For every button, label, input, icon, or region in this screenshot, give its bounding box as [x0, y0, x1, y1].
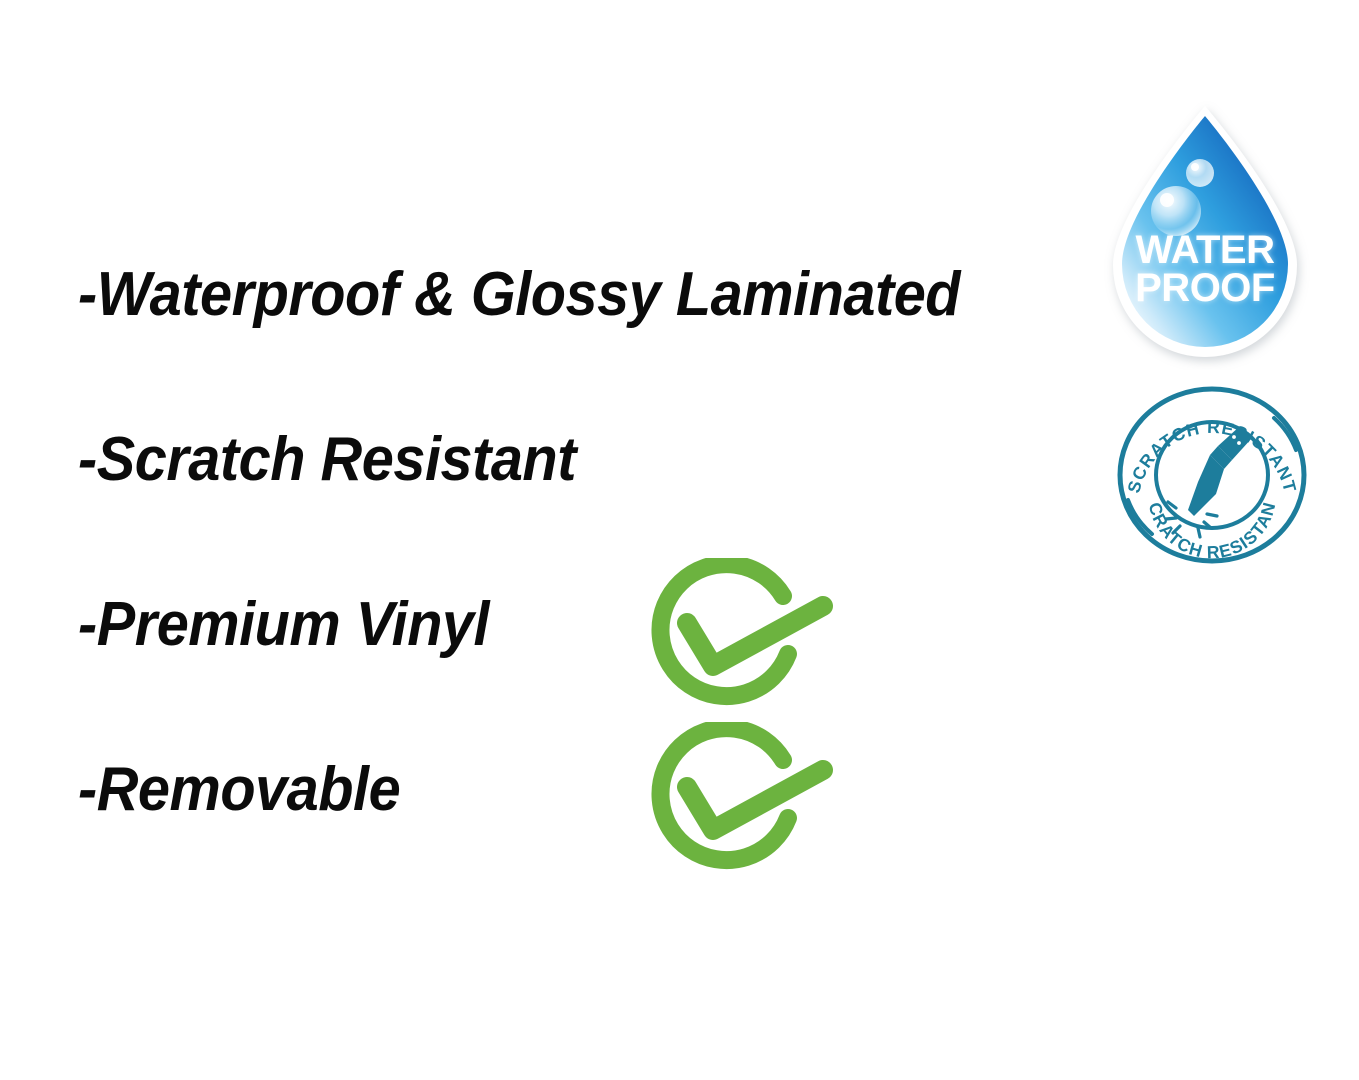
- water-drop-body: [1122, 116, 1288, 347]
- knife-icon: [1188, 426, 1252, 516]
- feature-list-panel: -Waterproof & Glossy Laminated -Scratch …: [0, 0, 1359, 1080]
- water-drop-icon: [1095, 100, 1315, 370]
- knife-rivet-2: [1237, 441, 1241, 445]
- water-bubble-large-highlight: [1160, 193, 1174, 207]
- knife-blade: [1188, 455, 1224, 516]
- checkmark-removable: [640, 722, 840, 877]
- check-circle-icon: [640, 722, 840, 877]
- check-tick: [687, 770, 823, 830]
- waterproof-badge: WATER PROOF: [1095, 100, 1315, 370]
- feature-line-removable: -Removable: [78, 759, 400, 821]
- feature-line-premium-vinyl: -Premium Vinyl: [78, 594, 489, 656]
- water-bubble-small: [1186, 159, 1214, 187]
- knife-rivet-1: [1232, 435, 1236, 439]
- check-tick: [687, 606, 823, 666]
- feature-line-scratch-resistant: -Scratch Resistant: [78, 429, 576, 491]
- checkmark-premium-vinyl: [640, 558, 840, 713]
- feature-line-waterproof-glossy-laminated: -Waterproof & Glossy Laminated: [78, 264, 960, 326]
- water-bubble-small-highlight: [1191, 163, 1199, 171]
- scratch-resistant-badge: SCRATCH RESISTANT SCRATCH RESISTANT: [1112, 382, 1312, 568]
- water-bubble-large: [1151, 186, 1201, 236]
- check-circle-icon: [640, 558, 840, 713]
- knife-stamp-icon: SCRATCH RESISTANT SCRATCH RESISTANT: [1112, 382, 1312, 568]
